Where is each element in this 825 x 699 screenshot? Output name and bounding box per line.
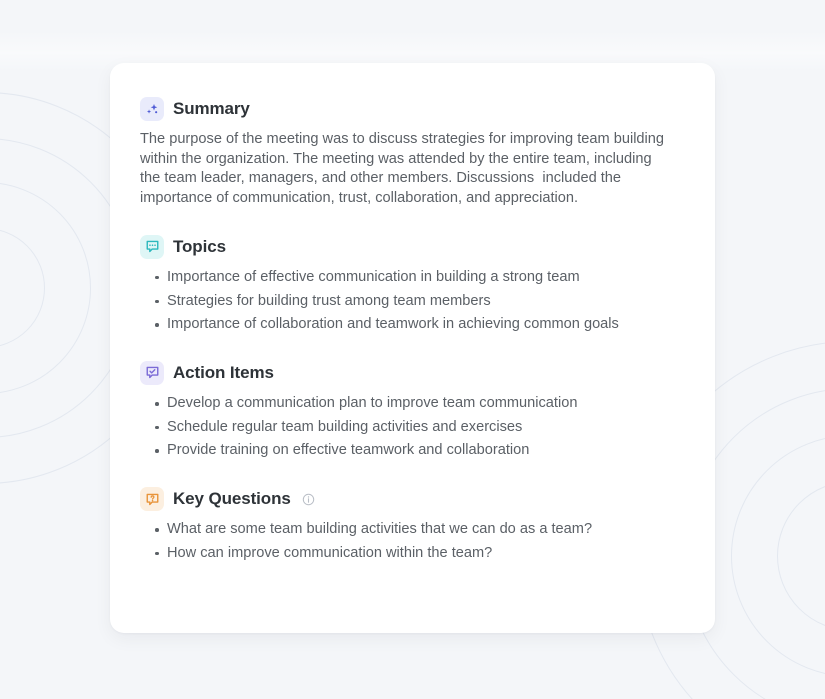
speech-bubble-check-icon: [140, 361, 164, 385]
speech-bubble-dots-icon: [140, 235, 164, 259]
section-topics-heading: Topics: [140, 235, 685, 259]
list-item: Importance of collaboration and teamwork…: [140, 315, 670, 335]
list-item: Importance of effective communication in…: [140, 268, 670, 288]
section-key-questions-title: Key Questions: [173, 489, 291, 509]
section-action-items-title: Action Items: [173, 363, 274, 383]
section-key-questions-heading: Key Questions: [140, 487, 685, 511]
section-action-items: Action Items Develop a communication pla…: [140, 361, 685, 461]
summary-paragraph: The purpose of the meeting was to discus…: [140, 130, 665, 209]
background-ring-left-2: [0, 182, 91, 394]
section-topics: Topics Importance of effective communica…: [140, 235, 685, 335]
speech-bubble-question-icon: [140, 487, 164, 511]
section-key-questions: Key Questions What are some team buildin…: [140, 487, 685, 563]
background-ring-right-1: [777, 481, 825, 631]
topics-list: Importance of effective communication in…: [140, 268, 685, 335]
list-item: Strategies for building trust among team…: [140, 292, 670, 312]
section-topics-title: Topics: [173, 237, 226, 257]
action-items-list: Develop a communication plan to improve …: [140, 394, 685, 461]
list-item: Develop a communication plan to improve …: [140, 394, 670, 414]
list-item: How can improve communication within the…: [140, 544, 670, 564]
list-item: Provide training on effective teamwork a…: [140, 441, 670, 461]
section-summary: Summary The purpose of the meeting was t…: [140, 97, 685, 209]
info-circle-icon[interactable]: [302, 493, 315, 506]
sparkle-icon: [140, 97, 164, 121]
meeting-notes-card: Summary The purpose of the meeting was t…: [110, 63, 715, 633]
background-ring-right-2: [731, 435, 825, 677]
key-questions-list: What are some team building activities t…: [140, 520, 685, 563]
background-ring-left-1: [0, 228, 45, 348]
list-item: What are some team building activities t…: [140, 520, 670, 540]
section-summary-heading: Summary: [140, 97, 685, 121]
section-summary-title: Summary: [173, 99, 250, 119]
section-action-items-heading: Action Items: [140, 361, 685, 385]
list-item: Schedule regular team building activitie…: [140, 418, 670, 438]
